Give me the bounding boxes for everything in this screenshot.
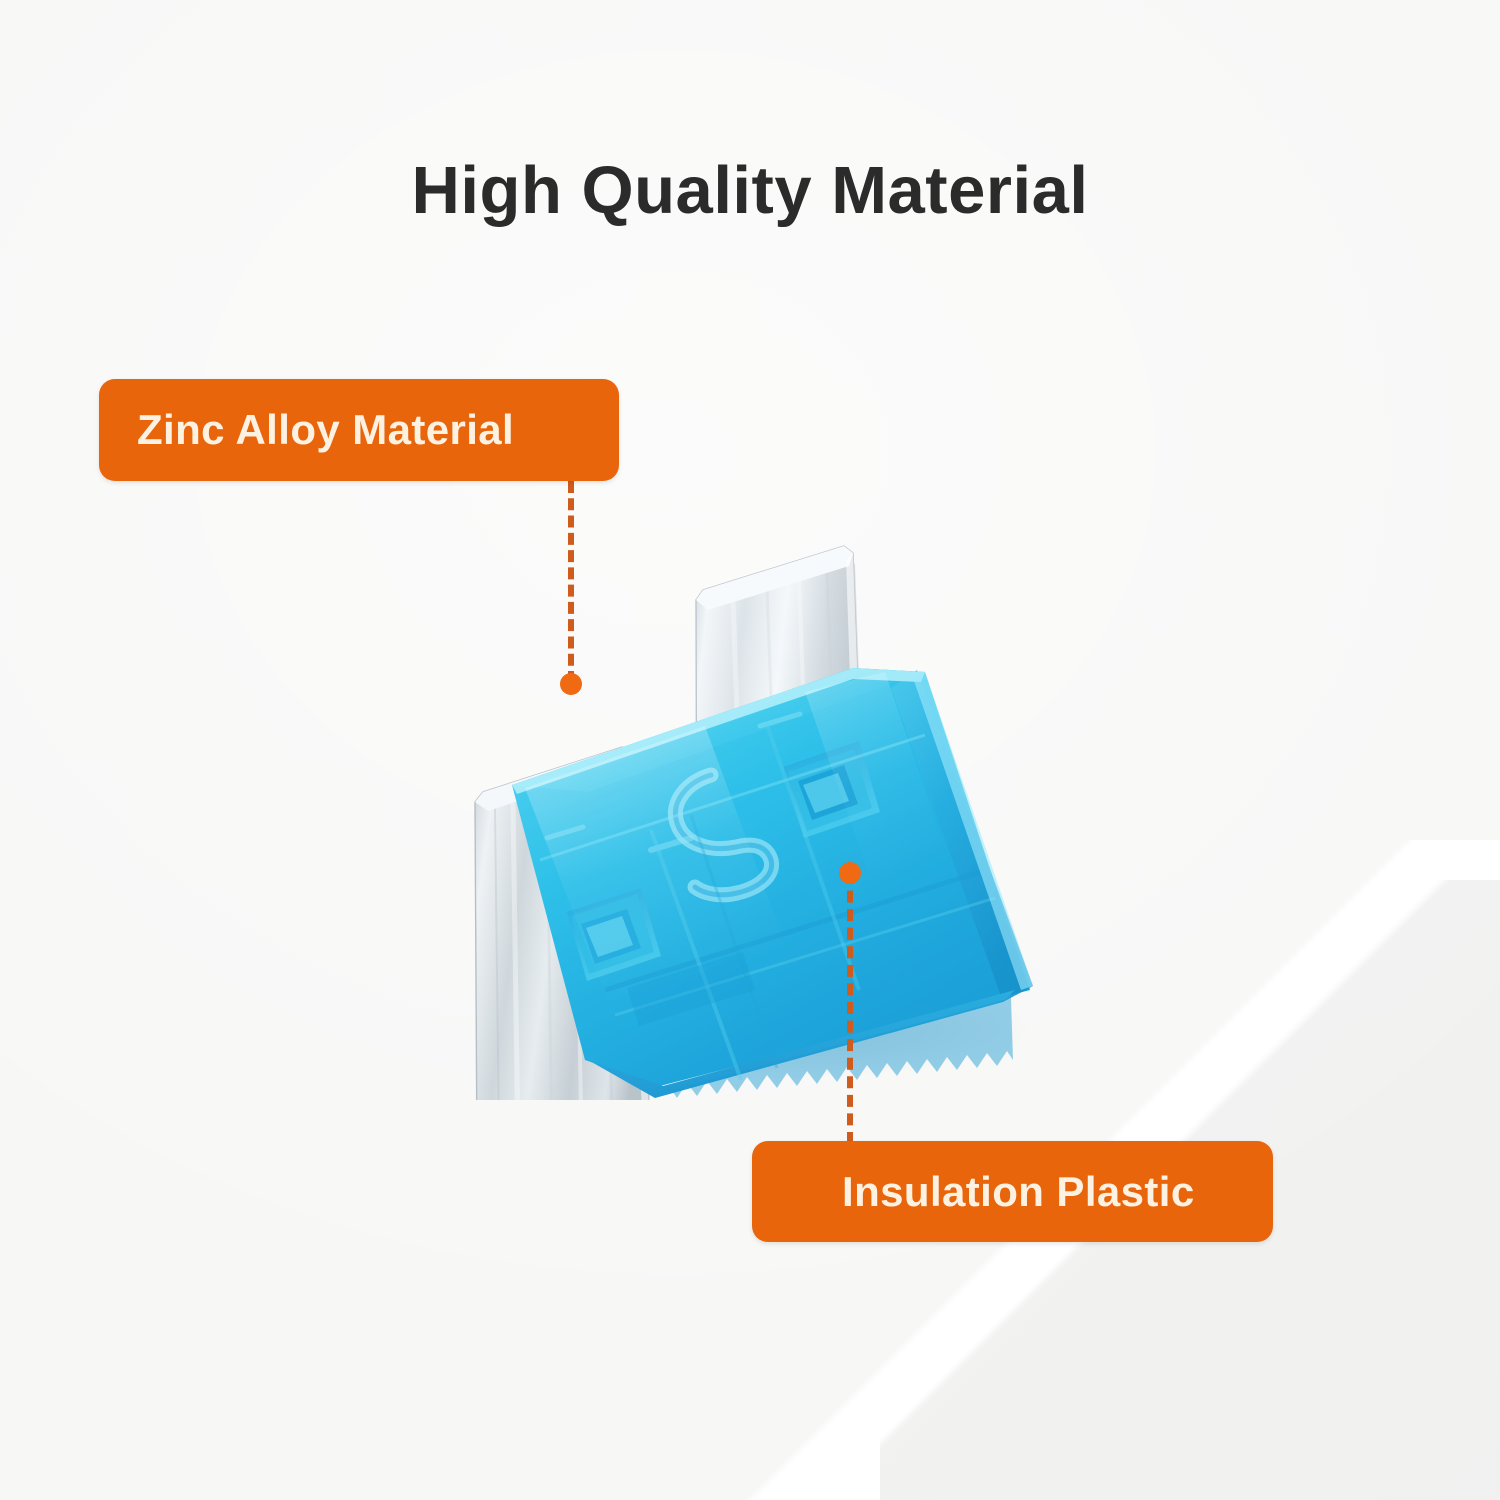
product-infographic: High Quality Material Zinc Alloy Materia… <box>0 0 1500 1500</box>
callout-zinc-alloy[interactable]: Zinc Alloy Material <box>99 379 619 481</box>
callout-insulation-plastic[interactable]: Insulation Plastic <box>752 1141 1273 1242</box>
callout-label-insulation-plastic: Insulation Plastic <box>842 1168 1195 1216</box>
plastic-housing <box>512 664 1033 1098</box>
blade-fuse-image <box>455 520 1075 1100</box>
callout-label-zinc-alloy: Zinc Alloy Material <box>137 406 514 454</box>
page-title: High Quality Material <box>0 152 1500 229</box>
